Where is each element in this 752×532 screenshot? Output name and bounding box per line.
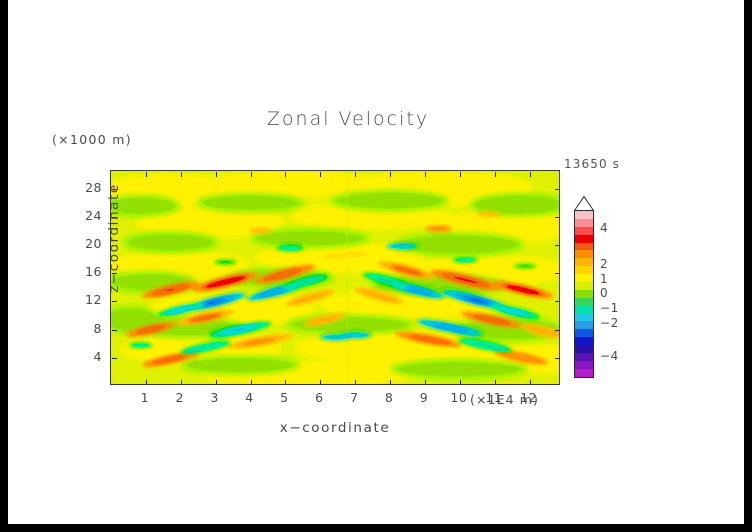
- y-axis-tick: [555, 330, 560, 331]
- y-axis-tick: [555, 273, 560, 274]
- colorbar-tick-label: 2: [600, 257, 608, 271]
- x-axis-tick-label: 6: [304, 390, 334, 405]
- x-axis-tick: [181, 380, 182, 385]
- x-axis-tick: [390, 172, 391, 177]
- x-axis-tick-label: 12: [514, 390, 544, 405]
- x-axis-tick: [285, 172, 286, 177]
- colorbar-band: [575, 361, 593, 369]
- x-axis-tick: [320, 172, 321, 177]
- y-axis-tick-label: 20: [72, 236, 102, 251]
- colorbar-band: [575, 219, 593, 227]
- x-axis-tick: [390, 380, 391, 385]
- colorbar-band: [575, 345, 593, 353]
- x-axis-tick: [216, 380, 217, 385]
- colorbar-band: [575, 337, 593, 345]
- colorbar-band: [575, 266, 593, 274]
- x-axis-tick-label: 5: [269, 390, 299, 405]
- y-axis-tick-label: 24: [72, 208, 102, 223]
- plot-area-wrapper: z−coordinate x−coordinate (×1E4 m) 12345…: [110, 170, 560, 385]
- x-axis-tick: [216, 172, 217, 177]
- y-axis-title: z−coordinate: [106, 158, 122, 318]
- x-axis-tick-label: 4: [235, 390, 265, 405]
- heatmap-plot[interactable]: [110, 170, 560, 385]
- y-axis-tick-label: 4: [72, 349, 102, 364]
- y-axis-tick: [555, 189, 560, 190]
- colorbar-band: [575, 290, 593, 298]
- y-axis-tick: [555, 358, 560, 359]
- x-axis-title: x−coordinate: [170, 420, 500, 436]
- page-title: Zonal Velocity: [8, 108, 688, 130]
- x-axis-tick-label: 2: [165, 390, 195, 405]
- y-axis-unit-label: (×1000 m): [52, 132, 132, 147]
- colorbar-band: [575, 306, 593, 314]
- colorbar-band: [575, 282, 593, 290]
- colorbar-tick-label: −4: [600, 349, 619, 363]
- colorbar-band: [575, 298, 593, 306]
- colorbar-band: [575, 274, 593, 282]
- x-axis-tick: [530, 172, 531, 177]
- colorbar-bands: [574, 210, 594, 378]
- colorbar-tick-label: −1: [600, 301, 619, 315]
- x-axis-tick-label: 3: [200, 390, 230, 405]
- x-axis-tick: [355, 172, 356, 177]
- x-axis-tick-label: 9: [409, 390, 439, 405]
- y-axis-tick-label: 8: [72, 321, 102, 336]
- x-axis-tick-label: 10: [444, 390, 474, 405]
- heatmap-canvas: [111, 171, 559, 384]
- y-axis-tick: [555, 217, 560, 218]
- x-axis-tick: [320, 380, 321, 385]
- colorbar-band: [575, 314, 593, 322]
- y-axis-tick-label: 12: [72, 292, 102, 307]
- colorbar-band: [575, 250, 593, 258]
- colorbar-tick-label: −2: [600, 316, 619, 330]
- x-axis-tick: [355, 380, 356, 385]
- figure-canvas: Zonal Velocity (×1000 m) 13650 s: [8, 0, 744, 524]
- x-axis-tick: [495, 172, 496, 177]
- colorbar-band: [575, 329, 593, 337]
- x-axis-tick-label: 1: [130, 390, 160, 405]
- colorbar-band: [575, 211, 593, 219]
- colorbar-band: [575, 235, 593, 243]
- colorbar[interactable]: 4210−1−2−4: [568, 196, 648, 382]
- x-axis-tick-label: 11: [479, 390, 509, 405]
- x-axis-tick: [460, 172, 461, 177]
- colorbar-band: [575, 243, 593, 251]
- x-axis-tick: [146, 380, 147, 385]
- colorbar-tick-label: 0: [600, 286, 608, 300]
- x-axis-tick: [425, 172, 426, 177]
- colorbar-band: [575, 321, 593, 329]
- x-axis-tick-label: 7: [339, 390, 369, 405]
- colorbar-band: [575, 369, 593, 377]
- x-axis-tick: [425, 380, 426, 385]
- y-axis-tick: [112, 330, 117, 331]
- x-axis-tick-label: 8: [374, 390, 404, 405]
- y-axis-tick: [112, 358, 117, 359]
- x-axis-tick: [181, 172, 182, 177]
- y-axis-tick: [555, 301, 560, 302]
- x-axis-tick: [285, 380, 286, 385]
- y-axis-tick-label: 16: [72, 264, 102, 279]
- colorbar-band: [575, 227, 593, 235]
- x-axis-tick: [146, 172, 147, 177]
- colorbar-tick-label: 1: [600, 272, 608, 286]
- y-axis-tick-label: 28: [72, 180, 102, 195]
- colorbar-band: [575, 353, 593, 361]
- x-axis-tick: [460, 380, 461, 385]
- x-axis-tick: [251, 380, 252, 385]
- colorbar-tick-label: 4: [600, 221, 608, 235]
- triangle-up-icon: [574, 196, 594, 211]
- x-axis-tick: [495, 380, 496, 385]
- x-axis-tick: [530, 380, 531, 385]
- x-axis-tick: [251, 172, 252, 177]
- timestamp-label: 13650 s: [564, 157, 620, 171]
- colorbar-band: [575, 258, 593, 266]
- y-axis-tick: [555, 245, 560, 246]
